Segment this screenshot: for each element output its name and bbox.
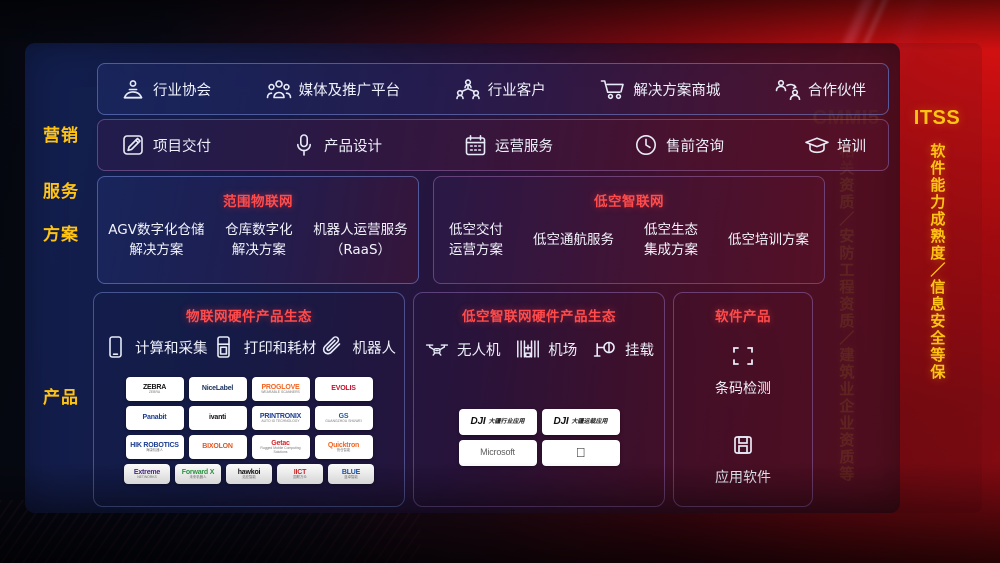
partner-logo[interactable]: DJI大疆运载应用 <box>542 409 620 435</box>
logo-row: HIK ROBOTICS海康机器人BIXOLONGetacRugged Mobi… <box>126 435 373 459</box>
mobile-device-icon <box>102 335 128 359</box>
certification-vertical-text: 软件能力成熟度／信息安全等保 <box>928 143 947 381</box>
solution-card-lowaltitude: 低空智联网 低空交付 运营方案低空通航服务低空生态 集成方案低空培训方案 <box>433 176 825 284</box>
partner-logo[interactable]: Quicktron快仓智能 <box>315 435 373 459</box>
service-bar: 项目交付产品设计运营服务售前咨询培训 <box>97 119 889 171</box>
product-icon-label: 无人机 <box>457 339 501 360</box>
partner-logo-sub: 大疆运载应用 <box>571 419 607 425</box>
partner-logo-name: IICT国联万众 <box>291 469 309 480</box>
nav-item-label: 产品设计 <box>324 135 382 156</box>
slide-canvas: CMMI5 相关资质／安防工程资质／建筑业企业资质等 ITSS 软件能力成熟度／… <box>0 0 1000 563</box>
partner-logo[interactable]: hawkoi浩亚智能 <box>226 464 272 484</box>
product-box-software: 软件产品 条码检测 应用软件 <box>673 292 813 507</box>
main-panel: 营销 服务 方案 产品 行业协会媒体及推广平台行业客户解决方案商城合作伙伴 项目… <box>25 43 900 513</box>
product-icon-item[interactable]: 计算和采集 <box>102 335 208 359</box>
solution-item[interactable]: 低空通航服务 <box>533 231 614 251</box>
software-item-label: 条码检测 <box>715 381 771 397</box>
solution-item[interactable]: 机器人运营服务 （RaaS） <box>313 221 408 260</box>
product-box-title: 物联网硬件产品生态 <box>94 305 404 325</box>
partner-logo[interactable]: IICT国联万众 <box>277 464 323 484</box>
partner-logo-sub: NETWORKS <box>134 476 160 480</box>
paperclip-robot-icon <box>320 335 346 359</box>
logo-row: DJI大疆行业应用DJI大疆运载应用 <box>459 409 620 435</box>
logo-row: PanabitivantiPRINTRONIXAUTO ID TECHNOLOG… <box>126 406 373 430</box>
partner-logo-sub: GUANGZHOU SHUWEI <box>325 420 362 424</box>
certification-column-itss: ITSS 软件能力成熟度／信息安全等保 <box>892 43 982 513</box>
partner-logo-sub: WEARABLE SCANNERS <box>261 391 300 395</box>
product-icon-label: 机器人 <box>353 337 397 358</box>
nav-item-4[interactable]: 售前咨询 <box>633 133 724 157</box>
product-icon-item[interactable]: 打印和耗材 <box>211 335 317 359</box>
partner-logo-name: hawkoi浩亚智能 <box>236 469 263 480</box>
nav-item-2[interactable]: 产品设计 <box>291 133 382 157</box>
partner-logo[interactable]: Panabit <box>126 406 184 430</box>
graduation-cap-icon <box>804 133 830 157</box>
partner-logo-sub: 大疆行业应用 <box>488 419 524 425</box>
partner-logo-name: BIXOLON <box>200 443 235 450</box>
microphone-icon <box>291 133 317 157</box>
product-box-iot: 物联网硬件产品生态 计算和采集打印和耗材机器人 ZEBRAZEBRANiceLa… <box>93 292 405 507</box>
product-icon-item[interactable]: 挂载 <box>592 337 654 361</box>
logo-row: ZEBRAZEBRANiceLabelPROGLOVEWEARABLE SCAN… <box>126 377 373 401</box>
nav-item-label: 解决方案商城 <box>633 79 720 100</box>
association-icon <box>120 77 146 101</box>
nav-item-5[interactable]: 合作伙伴 <box>775 77 866 101</box>
pen-edit-icon <box>120 133 146 157</box>
partner-logo-name: DJI大疆行业应用 <box>469 417 527 428</box>
partner-logo[interactable]: ivanti <box>189 406 247 430</box>
partner-logo[interactable]: HIK ROBOTICS海康机器人 <box>126 435 184 459</box>
partner-logo[interactable]: GetacRugged Mobile Computing Solutions <box>252 435 310 459</box>
row-label-solution: 方案 <box>25 220 97 245</box>
solution-card-title: 范围物联网 <box>98 190 418 210</box>
partner-logo-name: DJI大疆运载应用 <box>552 417 610 428</box>
nav-item-label: 行业客户 <box>488 79 546 100</box>
nav-item-3[interactable]: 运营服务 <box>462 133 553 157</box>
partner-logo-name: Forward X未来机器人 <box>180 469 216 480</box>
nav-item-4[interactable]: 解决方案商城 <box>600 77 720 101</box>
partner-logo[interactable]: GSGUANGZHOU SHUWEI <box>315 406 373 430</box>
solution-item[interactable]: 低空培训方案 <box>728 231 809 251</box>
partner-logo[interactable]: ExtremeNETWORKS <box>124 464 170 484</box>
nav-item-1[interactable]: 行业协会 <box>120 77 211 101</box>
software-item-application[interactable]: 应用软件 <box>674 432 812 487</box>
certification-title: ITSS <box>892 107 982 130</box>
partner-logo[interactable]: PROGLOVEWEARABLE SCANNERS <box>252 377 310 401</box>
partner-logo-name: PROGLOVEWEARABLE SCANNERS <box>259 384 302 395</box>
partner-logo[interactable]: NiceLabel <box>189 377 247 401</box>
row-label-marketing: 营销 <box>25 121 97 146</box>
nav-item-label: 项目交付 <box>153 135 211 156</box>
partner-logo[interactable]:  <box>542 440 620 466</box>
partner-logo-name: HIK ROBOTICS海康机器人 <box>128 442 181 453</box>
nav-item-1[interactable]: 项目交付 <box>120 133 211 157</box>
solution-item[interactable]: 仓库数字化 解决方案 <box>225 221 293 260</box>
product-icon-label: 挂载 <box>625 339 654 360</box>
nav-item-label: 行业协会 <box>153 79 211 100</box>
payload-mount-icon <box>592 337 618 361</box>
partner-logo[interactable]: Microsoft <box>459 440 537 466</box>
customers-network-icon <box>455 77 481 101</box>
partner-logo-name: ExtremeNETWORKS <box>132 469 162 480</box>
product-icon-item[interactable]: 机场 <box>515 337 577 361</box>
row-label-product: 产品 <box>25 383 97 408</box>
partner-logo-name: EVOLIS <box>329 385 357 392</box>
partner-logo-name: Panabit <box>141 414 169 421</box>
nav-item-label: 培训 <box>837 135 866 156</box>
product-icon-label: 机场 <box>548 339 577 360</box>
nav-item-3[interactable]: 行业客户 <box>455 77 546 101</box>
partner-logo-name: BLUE蓝卓智能 <box>340 469 362 480</box>
barcode-scan-icon <box>730 343 756 369</box>
partners-handshake-icon <box>775 77 801 101</box>
partner-logo[interactable]: Forward X未来机器人 <box>175 464 221 484</box>
partner-logo-name: ivanti <box>207 414 228 421</box>
solution-card-iot: 范围物联网 AGV数字化仓储 解决方案仓库数字化 解决方案机器人运营服务 （Ra… <box>97 176 419 284</box>
partner-logo-name:  <box>574 446 588 460</box>
partner-logo-sub: 未来机器人 <box>182 476 214 480</box>
nav-item-label: 媒体及推广平台 <box>299 79 401 100</box>
nav-item-5[interactable]: 培训 <box>804 133 866 157</box>
shopping-cart-icon <box>600 77 626 101</box>
partner-logo[interactable]: BIXOLON <box>189 435 247 459</box>
media-group-icon <box>266 77 292 101</box>
partner-logo-sub: AUTO ID TECHNOLOGY <box>260 420 301 424</box>
nav-item-label: 运营服务 <box>495 135 553 156</box>
partner-logo-sub: ZEBRA <box>143 391 166 395</box>
product-icon-label: 打印和耗材 <box>244 337 317 358</box>
airport-dock-icon <box>515 337 541 361</box>
partner-logo[interactable]: DJI大疆行业应用 <box>459 409 537 435</box>
nav-item-2[interactable]: 媒体及推广平台 <box>266 77 401 101</box>
clock-icon <box>633 133 659 157</box>
software-item-label: 应用软件 <box>715 470 771 486</box>
partner-logo-name: GSGUANGZHOU SHUWEI <box>323 413 364 424</box>
logo-row: ExtremeNETWORKSForward X未来机器人hawkoi浩亚智能I… <box>124 464 374 484</box>
partner-logo-name: GetacRugged Mobile Computing Solutions <box>252 440 310 454</box>
partner-logo-sub: 蓝卓智能 <box>342 476 360 480</box>
partner-logo-sub: 国联万众 <box>293 476 307 480</box>
partner-logo-name: Microsoft <box>478 448 517 457</box>
partner-logo-sub: 海康机器人 <box>130 449 179 453</box>
partner-logo-sub: 浩亚智能 <box>238 476 261 480</box>
partner-logo[interactable]: ZEBRAZEBRA <box>126 377 184 401</box>
solution-item[interactable]: 低空交付 运营方案 <box>449 221 503 260</box>
product-box-title: 软件产品 <box>674 305 812 325</box>
solution-item[interactable]: AGV数字化仓储 解决方案 <box>108 221 204 260</box>
solution-item[interactable]: 低空生态 集成方案 <box>644 221 698 260</box>
nav-item-label: 售前咨询 <box>666 135 724 156</box>
partner-logo[interactable]: BLUE蓝卓智能 <box>328 464 374 484</box>
row-label-service: 服务 <box>25 177 97 202</box>
partner-logo-sub: Rugged Mobile Computing Solutions <box>254 447 308 454</box>
partner-logo[interactable]: EVOLIS <box>315 377 373 401</box>
software-item-barcode[interactable]: 条码检测 <box>674 343 812 398</box>
product-icon-label: 计算和采集 <box>135 337 208 358</box>
calendar-icon <box>462 133 488 157</box>
printer-icon <box>211 335 237 359</box>
partner-logo[interactable]: PRINTRONIXAUTO ID TECHNOLOGY <box>252 406 310 430</box>
nav-item-label: 合作伙伴 <box>808 79 866 100</box>
product-icon-item[interactable]: 机器人 <box>320 335 397 359</box>
partner-logo-sub: 快仓智能 <box>328 449 359 453</box>
marketing-bar: 行业协会媒体及推广平台行业客户解决方案商城合作伙伴 <box>97 63 889 115</box>
floppy-disk-icon <box>730 432 756 458</box>
partner-logo-name: PRINTRONIXAUTO ID TECHNOLOGY <box>258 413 303 424</box>
logo-row: Microsoft <box>459 440 620 466</box>
product-box-title: 低空智联网硬件产品生态 <box>414 305 664 325</box>
product-box-lowaltitude: 低空智联网硬件产品生态 无人机机场挂载 DJI大疆行业应用DJI大疆运载应用Mi… <box>413 292 665 507</box>
partner-logo-name: Quicktron快仓智能 <box>326 442 361 453</box>
partner-logo-name: ZEBRAZEBRA <box>141 384 168 395</box>
solution-card-title: 低空智联网 <box>434 190 824 210</box>
product-icon-item[interactable]: 无人机 <box>424 337 501 361</box>
drone-icon <box>424 337 450 361</box>
partner-logo-name: NiceLabel <box>200 385 235 392</box>
